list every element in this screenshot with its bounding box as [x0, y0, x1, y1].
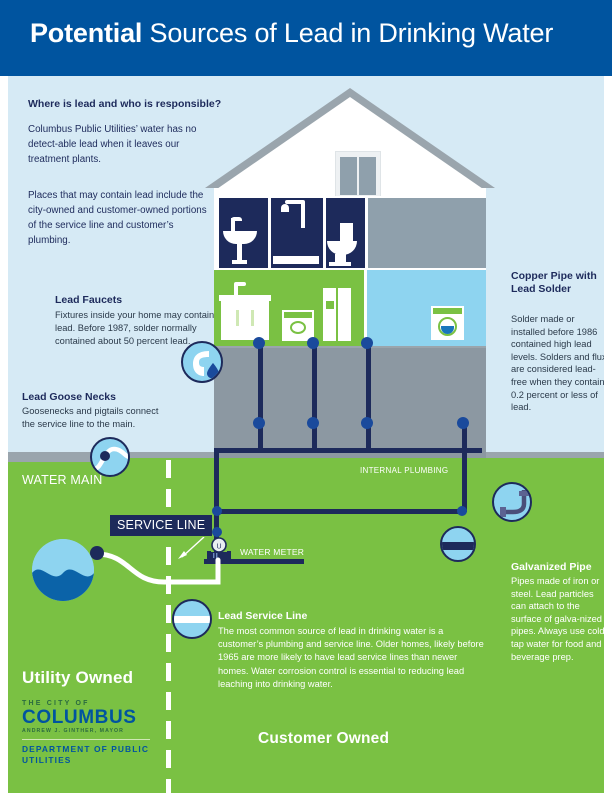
cabinet-handle-left: [236, 310, 239, 326]
lead-faucets-body: Fixtures inside your home may contain le…: [55, 309, 220, 348]
infographic-page: Potential Sources of Lead in Drinking Wa…: [0, 0, 612, 793]
pipe-node: [457, 417, 469, 429]
galvanized-pipe-body: Pipes made of iron or steel. Lead partic…: [511, 575, 607, 663]
lead-faucets-heading: Lead Faucets: [55, 294, 122, 306]
bathroom-divider-1: [268, 198, 271, 268]
logo-line-4: DEPARTMENT OF PUBLIC UTILITIES: [22, 744, 162, 766]
pipe-node: [253, 337, 265, 349]
bathroom-right-wall: [368, 198, 486, 268]
refrigerator-door-split: [336, 288, 338, 341]
basement-area: [214, 348, 486, 458]
right-margin: [604, 76, 612, 793]
refrigerator-dispenser: [326, 301, 334, 309]
ownership-divider: [166, 460, 171, 793]
pipe-node: [361, 417, 373, 429]
bathroom-divider-2: [323, 198, 326, 268]
galvanized-pipe-heading: Galvanized Pipe: [511, 561, 592, 573]
page-title-rest: Sources of Lead in Drinking Water: [142, 18, 553, 48]
water-main-label: WATER MAIN: [22, 473, 102, 487]
shower-pan-icon: [273, 256, 319, 264]
customer-owned-label: Customer Owned: [258, 730, 389, 748]
intro-question: Where is lead and who is responsible?: [28, 98, 221, 110]
logo-line-3: ANDREW J. GINTHER, MAYOR: [22, 728, 162, 734]
page-title: Potential Sources of Lead in Drinking Wa…: [30, 18, 553, 49]
toilet-tank-icon: [340, 223, 353, 241]
water-main-icon: [32, 539, 94, 601]
pipe-node: [307, 417, 319, 429]
lead-goose-necks-body: Goosenecks and pigtails connect the serv…: [22, 405, 172, 431]
basement-header-pipe: [214, 448, 482, 453]
intro-paragraph-2: Places that may contain lead include the…: [28, 188, 213, 248]
pipe-node: [212, 527, 222, 537]
internal-plumbing-label: INTERNAL PLUMBING: [360, 466, 448, 475]
attic-window-icon: [335, 151, 381, 199]
logo-line-1: THE CITY OF: [22, 700, 162, 707]
copper-pipe-heading: Copper Pipe with Lead Solder: [511, 270, 606, 296]
riser-pipe-bath-sink: [258, 340, 263, 422]
shower-nozzle-icon: [281, 204, 289, 212]
riser-pipe-toilet: [366, 340, 371, 422]
cabinet-handle-right: [251, 310, 254, 326]
gooseneck-node: [90, 546, 104, 560]
pipe-node: [307, 337, 319, 349]
basement-lower-pipe: [214, 509, 466, 514]
shower-arm: [301, 202, 305, 228]
house-illustration: [205, 88, 495, 458]
sink-faucet-stem: [231, 218, 235, 232]
lead-service-line-heading: Lead Service Line: [218, 610, 307, 622]
service-line-leader: [178, 537, 206, 559]
pipe-node: [457, 506, 467, 516]
dishwasher-panel: [284, 312, 312, 318]
city-of-columbus-logo: THE CITY OF COLUMBUS ANDREW J. GINTHER, …: [22, 700, 162, 766]
logo-line-2: COLUMBUS: [22, 707, 162, 728]
pipe-node: [212, 506, 222, 516]
lead-service-line-body: The most common source of lead in drinki…: [218, 625, 488, 691]
riser-pipe-shower: [312, 340, 317, 422]
kitchen-cabinet-icon: [221, 300, 269, 340]
water-meter-label: WATER METER: [240, 547, 304, 557]
gooseneck-pipe-icon: [90, 437, 130, 477]
utility-owned-label: Utility Owned: [22, 668, 133, 688]
laundry-room: [367, 270, 486, 348]
service-line-icon: [172, 599, 212, 639]
pipe-section-icon: [440, 526, 476, 562]
lead-goose-necks-heading: Lead Goose Necks: [22, 391, 116, 403]
sink-pedestal: [237, 243, 242, 261]
page-title-bold: Potential: [30, 18, 142, 48]
left-margin: [0, 76, 8, 793]
dishwasher-dish: [290, 321, 306, 334]
logo-divider: [22, 739, 150, 740]
toilet-foot: [329, 262, 351, 266]
header-band: Potential Sources of Lead in Drinking Wa…: [0, 0, 612, 76]
pipe-node: [253, 417, 265, 429]
washer-panel: [433, 308, 462, 314]
copper-pipe-body: Solder made or installed before 1986 con…: [511, 313, 607, 414]
intro-paragraph-1: Columbus Public Utilities’ water has no …: [28, 122, 213, 167]
sink-base: [232, 260, 247, 264]
service-line-callout: SERVICE LINE: [110, 515, 212, 536]
riser-pipe-laundry: [462, 450, 467, 512]
pipe-node: [361, 337, 373, 349]
elbow-pipe-icon: [492, 482, 532, 522]
